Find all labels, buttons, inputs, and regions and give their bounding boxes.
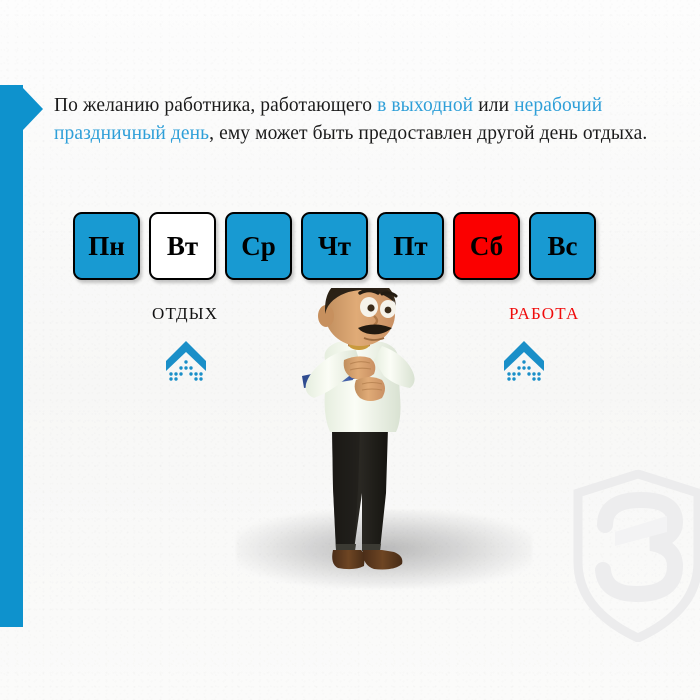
day-box-monday[interactable]: Пн: [73, 212, 140, 280]
shield-logo-watermark: [571, 470, 700, 642]
week-strip: Пн Вт Ср Чт Пт Сб Вс: [73, 212, 596, 280]
paragraph-text: По желанию работника, работающего в выхо…: [54, 92, 670, 147]
chevron-up-icon-work: [503, 338, 545, 382]
day-box-sunday[interactable]: Вс: [529, 212, 596, 280]
businessman-illustration: [270, 288, 452, 580]
paragraph-segment-3: , ему может быть предоставлен другой ден…: [209, 123, 647, 144]
left-accent-ribbon: [0, 85, 23, 627]
paragraph-highlight-1: в выходной: [377, 95, 473, 116]
day-box-friday[interactable]: Пт: [377, 212, 444, 280]
day-box-saturday[interactable]: Сб: [453, 212, 520, 280]
day-box-tuesday[interactable]: Вт: [149, 212, 216, 280]
ribbon-pointer-icon: [23, 88, 43, 130]
paragraph-segment-1: По желанию работника, работающего: [54, 95, 377, 116]
day-box-wednesday[interactable]: Ср: [225, 212, 292, 280]
caption-work: РАБОТА: [509, 304, 580, 324]
chevron-up-icon-rest: [165, 338, 207, 382]
paragraph-segment-2: или: [473, 95, 514, 116]
slide-canvas: По желанию работника, работающего в выхо…: [0, 0, 700, 700]
caption-rest: ОТДЫХ: [152, 304, 218, 324]
day-box-thursday[interactable]: Чт: [301, 212, 368, 280]
